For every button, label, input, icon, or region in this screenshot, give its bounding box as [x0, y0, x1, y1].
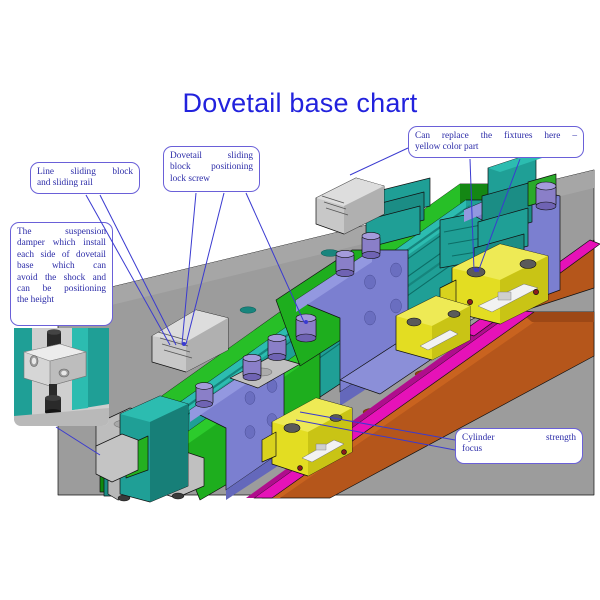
leader-damper: [56, 427, 100, 455]
leader-cylinder-2: [296, 420, 455, 450]
diagram-canvas: Dovetail base chart: [0, 0, 600, 600]
leader-fixtures-3: [350, 148, 408, 175]
leader-dovetail-2: [186, 193, 224, 344]
leader-line-sliding-1: [86, 195, 170, 345]
leader-dovetail-3: [246, 193, 304, 322]
leader-lines: [0, 0, 600, 600]
leader-fixtures-1: [470, 159, 474, 270]
leader-dovetail-1: [182, 193, 196, 344]
leader-fixtures-2: [478, 159, 520, 272]
leader-line-sliding-2: [100, 195, 176, 345]
